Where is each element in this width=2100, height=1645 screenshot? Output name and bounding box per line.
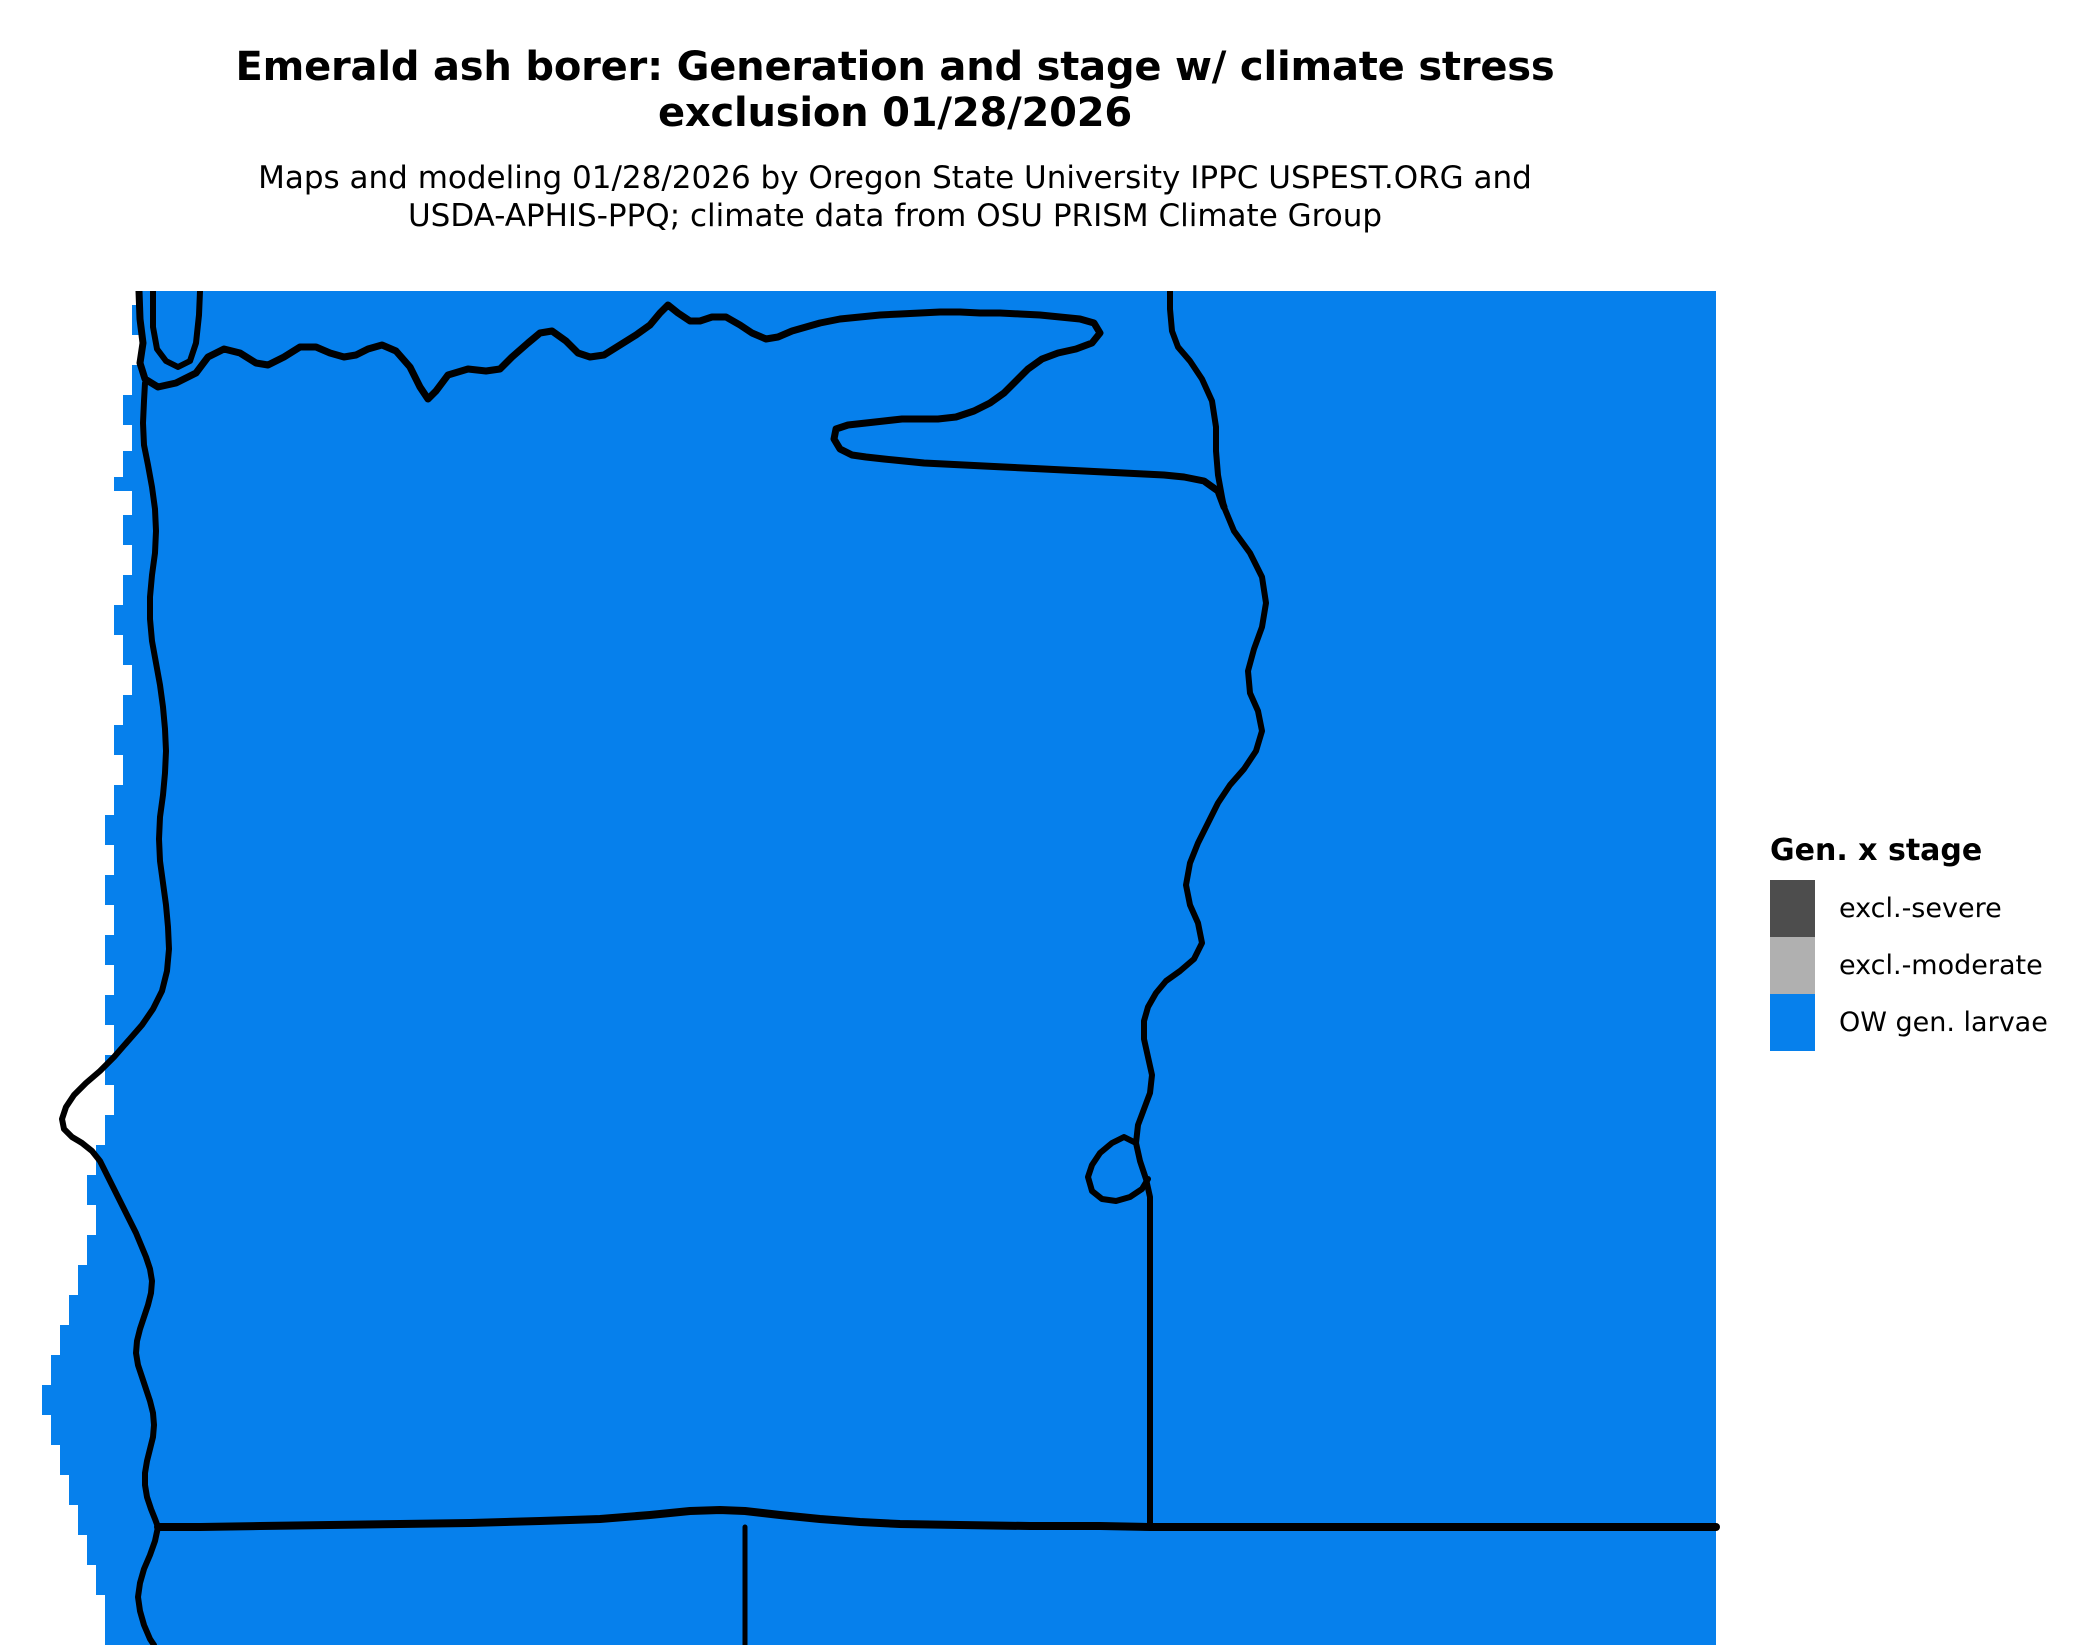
raster-cell-nw-1 bbox=[123, 451, 141, 465]
raster-cells-south-strip bbox=[105, 1610, 1716, 1645]
page-title: Emerald ash borer: Generation and stage … bbox=[0, 0, 1790, 137]
legend-swatch-excl-moderate bbox=[1770, 937, 1815, 994]
map-panel[interactable] bbox=[0, 291, 1790, 1645]
map-header: Emerald ash borer: Generation and stage … bbox=[0, 0, 1790, 236]
legend-label-ow-gen-larvae: OW gen. larvae bbox=[1839, 1009, 2048, 1036]
raster-cell-nw-2 bbox=[114, 477, 132, 491]
legend-title: Gen. x stage bbox=[1770, 836, 2090, 866]
legend-swatch-excl-severe bbox=[1770, 880, 1815, 937]
legend-item-ow-gen-larvae[interactable]: OW gen. larvae bbox=[1770, 994, 2090, 1051]
legend-label-excl-severe: excl.-severe bbox=[1839, 895, 2002, 922]
legend-item-excl-severe[interactable]: excl.-severe bbox=[1770, 880, 2090, 937]
raster-layer bbox=[42, 291, 1716, 1645]
oregon-map[interactable] bbox=[0, 291, 1790, 1645]
legend-label-excl-moderate: excl.-moderate bbox=[1839, 952, 2043, 979]
legend-item-excl-moderate[interactable]: excl.-moderate bbox=[1770, 937, 2090, 994]
map-legend: Gen. x stage excl.-severe excl.-moderate… bbox=[1770, 836, 2090, 1051]
page-subtitle: Maps and modeling 01/28/2026 by Oregon S… bbox=[0, 137, 1790, 236]
raster-cells-ow-gen-larvae bbox=[42, 291, 1716, 1610]
legend-swatch-ow-gen-larvae bbox=[1770, 994, 1815, 1051]
